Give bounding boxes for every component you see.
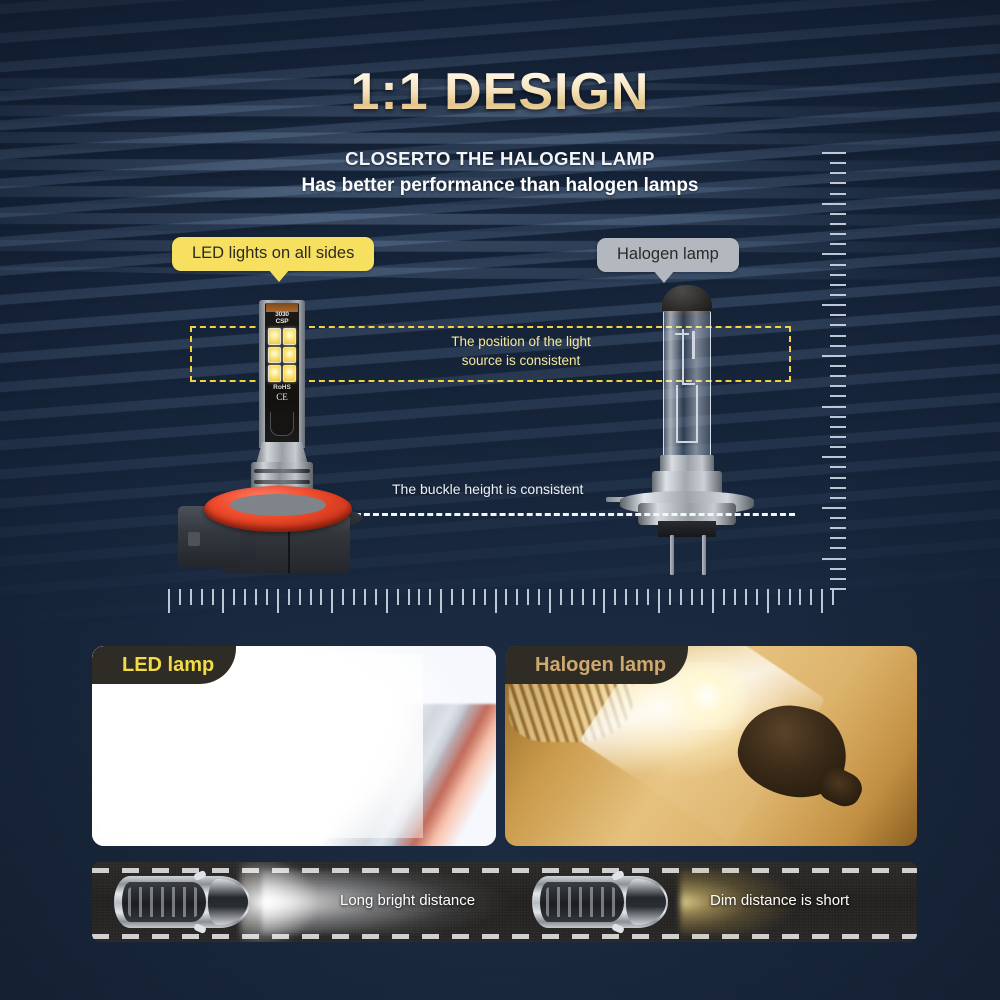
ruler-tick-major: [168, 589, 170, 613]
ruler-tick-minor: [691, 589, 693, 605]
ruler-tick-minor: [830, 375, 846, 377]
halogen-contact-pin: [670, 535, 674, 575]
ruler-tick-minor: [636, 589, 638, 605]
ruler-tick-major: [821, 589, 823, 613]
callout-led-lights: LED lights on all sides: [172, 237, 374, 271]
ruler-tick-major: [822, 558, 846, 560]
ruler-tick-minor: [830, 213, 846, 215]
led-chip: [283, 328, 296, 345]
ruler-tick-minor: [418, 589, 420, 605]
ruler-tick-minor: [830, 578, 846, 580]
ruler-tick-minor: [830, 284, 846, 286]
led-pcb-slot: [270, 412, 294, 436]
ruler-tick-minor: [799, 589, 801, 605]
halogen-panel-tag-label: Halogen lamp: [535, 654, 666, 677]
ruler-tick-major: [658, 589, 660, 613]
ruler-tick-minor: [830, 426, 846, 428]
ruler-tick-minor: [830, 223, 846, 225]
ruler-tick-major: [822, 152, 846, 154]
ruler-tick-major: [603, 589, 605, 613]
halogen-filament-lead: [696, 385, 698, 443]
ruler-tick-major: [822, 304, 846, 306]
ruler-tick-minor: [830, 243, 846, 245]
ruler-tick-minor: [830, 395, 846, 397]
ruler-tick-minor: [830, 324, 846, 326]
ruler-tick-minor: [505, 589, 507, 605]
ruler-tick-major: [222, 589, 224, 613]
led-heatsink-fin: [254, 480, 310, 484]
ruler-tick-minor: [830, 193, 846, 195]
ruler-tick-minor: [830, 416, 846, 418]
ruler-tick-minor: [830, 385, 846, 387]
ruler-tick-minor: [830, 436, 846, 438]
callout-halogen-lamp: Halogen lamp: [597, 238, 739, 272]
ruler-tick-minor: [266, 589, 268, 605]
ruler-tick-minor: [560, 589, 562, 605]
ruler-tick-minor: [830, 162, 846, 164]
page-title: 1:1 DESIGN: [0, 62, 1000, 122]
alignment-label-line-2: source is consistent: [410, 352, 632, 371]
ruler-tick-minor: [582, 589, 584, 605]
halogen-filament-cross: [675, 333, 689, 335]
ruler-tick-minor: [830, 294, 846, 296]
ruler-tick-minor: [756, 589, 758, 605]
ruler-tick-major: [822, 406, 846, 408]
ruler-tick-minor: [614, 589, 616, 605]
led-beam-splash: [240, 862, 318, 942]
callout-pointer-icon: [268, 269, 290, 282]
halogen-filament-bridge: [682, 383, 695, 385]
led-heatsink-fin: [254, 469, 310, 473]
ruler-tick-minor: [830, 182, 846, 184]
ruler-tick-minor: [830, 497, 846, 499]
ruler-tick-minor: [830, 274, 846, 276]
led-marking-csp: CSP: [266, 319, 298, 326]
led-chip: [283, 365, 296, 382]
halogen-filament-lead: [676, 385, 678, 443]
led-bulb-illustration: 3030 CSP RoHS CE: [178, 300, 372, 580]
ruler-tick-minor: [830, 335, 846, 337]
ruler-tick-minor: [233, 589, 235, 605]
led-panel-tag: LED lamp: [92, 646, 236, 684]
ruler-tick-minor: [701, 589, 703, 605]
halogen-beam-caption: Dim distance is short: [710, 892, 849, 909]
ruler-tick-major: [712, 589, 714, 613]
ruler-tick-minor: [832, 589, 834, 605]
callout-pointer-icon: [653, 270, 675, 283]
ruler-tick-major: [822, 355, 846, 357]
ruler-tick-minor: [364, 589, 366, 605]
ruler-tick-minor: [830, 345, 846, 347]
ruler-tick-minor: [625, 589, 627, 605]
ruler-tick-minor: [723, 589, 725, 605]
ruler-tick-minor: [212, 589, 214, 605]
lane-marking-bottom: [92, 934, 917, 939]
ruler-tick-major: [822, 253, 846, 255]
ruler-tick-major: [277, 589, 279, 613]
ruler-tick-minor: [593, 589, 595, 605]
ruler-tick-major: [822, 203, 846, 205]
vertical-ruler: [820, 152, 846, 588]
ruler-tick-minor: [451, 589, 453, 605]
ruler-tick-minor: [375, 589, 377, 605]
led-beam-caption: Long bright distance: [340, 892, 475, 909]
ruler-tick-minor: [288, 589, 290, 605]
ruler-tick-major: [822, 456, 846, 458]
ruler-tick-minor: [830, 446, 846, 448]
led-o-ring-inner: [230, 494, 326, 516]
halogen-filament-coil: [692, 331, 695, 359]
ruler-tick-minor: [310, 589, 312, 605]
alignment-label-line-1: The position of the light: [410, 333, 632, 352]
ruler-tick-minor: [647, 589, 649, 605]
car-top-view-led: [114, 876, 250, 928]
ruler-tick-minor: [830, 547, 846, 549]
infographic-root: 1:1 DESIGN CLOSERTO THE HALOGEN LAMP Has…: [0, 0, 1000, 1000]
ruler-tick-minor: [244, 589, 246, 605]
ruler-tick-minor: [745, 589, 747, 605]
ruler-tick-minor: [201, 589, 203, 605]
ruler-tick-minor: [397, 589, 399, 605]
ruler-tick-major: [331, 589, 333, 613]
ruler-tick-minor: [190, 589, 192, 605]
led-chip: [283, 347, 296, 364]
ruler-tick-minor: [830, 365, 846, 367]
subtitle-secondary: Has better performance than halogen lamp…: [0, 175, 1000, 197]
ruler-tick-minor: [255, 589, 257, 605]
led-marking-ce: CE: [266, 392, 298, 402]
halogen-filament-base: [676, 441, 698, 443]
halogen-base-insulator: [658, 521, 716, 537]
ruler-tick-major: [549, 589, 551, 613]
ruler-tick-major: [822, 507, 846, 509]
ruler-tick-minor: [830, 314, 846, 316]
road-comparison-strip: Long bright distance Dim distance is sho…: [92, 862, 917, 942]
buckle-height-label: The buckle height is consistent: [392, 481, 583, 497]
led-chip: [268, 328, 281, 345]
ruler-tick-minor: [571, 589, 573, 605]
car-cabin: [540, 882, 624, 922]
ruler-tick-minor: [789, 589, 791, 605]
ruler-tick-minor: [830, 466, 846, 468]
ruler-tick-minor: [538, 589, 540, 605]
car-top-view-halogen: [532, 876, 668, 928]
ruler-tick-minor: [516, 589, 518, 605]
led-pcb-marking-model: 3030 CSP: [266, 312, 298, 326]
halogen-panel-tag: Halogen lamp: [505, 646, 688, 684]
subtitle-primary: CLOSERTO THE HALOGEN LAMP: [0, 148, 1000, 170]
ruler-tick-minor: [669, 589, 671, 605]
ruler-tick-minor: [734, 589, 736, 605]
ruler-tick-minor: [179, 589, 181, 605]
led-neck: [256, 442, 308, 464]
ruler-tick-major: [495, 589, 497, 613]
ruler-tick-major: [386, 589, 388, 613]
halogen-bulb-illustration: [620, 285, 754, 575]
led-chip-grid: [268, 328, 296, 382]
ruler-tick-major: [440, 589, 442, 613]
ruler-tick-minor: [527, 589, 529, 605]
ruler-tick-minor: [320, 589, 322, 605]
ruler-tick-minor: [342, 589, 344, 605]
ruler-tick-minor: [680, 589, 682, 605]
ruler-tick-minor: [830, 233, 846, 235]
ruler-tick-minor: [462, 589, 464, 605]
ruler-tick-minor: [778, 589, 780, 605]
halogen-lamp-photo-panel: Halogen lamp: [505, 646, 917, 846]
halogen-filament-lead: [682, 329, 684, 383]
ruler-tick-minor: [830, 264, 846, 266]
ruler-tick-minor: [830, 517, 846, 519]
ruler-tick-minor: [299, 589, 301, 605]
led-marking-rohs: RoHS: [266, 384, 298, 391]
ruler-tick-minor: [429, 589, 431, 605]
ruler-tick-minor: [408, 589, 410, 605]
led-chip: [268, 347, 281, 364]
ruler-tick-minor: [353, 589, 355, 605]
ruler-tick-minor: [473, 589, 475, 605]
ruler-tick-minor: [830, 527, 846, 529]
ruler-tick-minor: [830, 537, 846, 539]
halogen-contact-pin: [702, 535, 706, 575]
callout-led-label: LED lights on all sides: [192, 244, 354, 262]
car-cabin: [122, 882, 206, 922]
ruler-tick-minor: [830, 568, 846, 570]
led-lamp-photo-panel: LED lamp: [92, 646, 496, 846]
ruler-tick-minor: [830, 487, 846, 489]
light-source-alignment-label: The position of the light source is cons…: [410, 333, 632, 371]
ruler-tick-major: [767, 589, 769, 613]
led-chip: [268, 365, 281, 382]
led-panel-tag-label: LED lamp: [122, 654, 214, 677]
horizontal-ruler: [168, 589, 832, 615]
ruler-tick-minor: [810, 589, 812, 605]
ruler-tick-minor: [830, 477, 846, 479]
callout-halogen-label: Halogen lamp: [617, 245, 719, 263]
ruler-tick-minor: [484, 589, 486, 605]
ruler-tick-minor: [830, 172, 846, 174]
